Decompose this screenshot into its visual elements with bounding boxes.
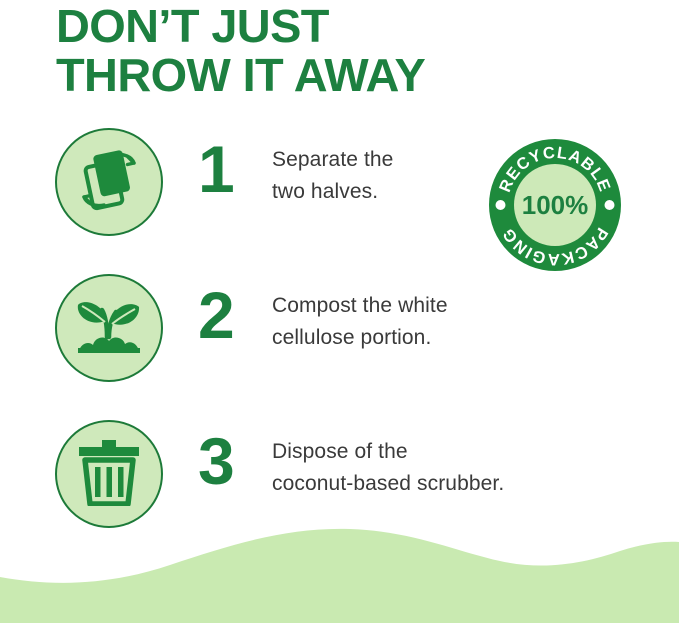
page-title: DON’T JUST THROW IT AWAY [56, 2, 656, 100]
recyclable-packaging-badge: RECYCLABLE PACKAGING 100% [487, 137, 623, 273]
step-item-3: 3 Dispose of the coconut-based scrubber. [0, 420, 679, 566]
badge-dot-left [496, 200, 506, 210]
step-text-1-line-1: Separate the [272, 148, 393, 171]
step-text-2: Compost the white cellulose portion. [272, 290, 652, 354]
step-text-2-line-1: Compost the white [272, 294, 448, 317]
step-icon-circle-2 [55, 274, 163, 382]
step-number-3: 3 [198, 428, 258, 494]
step-text-2-line-2: cellulose portion. [272, 322, 652, 354]
badge-dot-right [605, 200, 615, 210]
sprout-plant-icon [73, 293, 145, 364]
headline-line-1: DON’T JUST [56, 2, 668, 51]
step-text-3: Dispose of the coconut-based scrubber. [272, 436, 652, 500]
headline-line-2: THROW IT AWAY [56, 51, 668, 100]
step-item-2: 2 Compost the white cellulose portion. [0, 274, 679, 420]
step-icon-circle-1 [55, 128, 163, 236]
step-text-3-line-2: coconut-based scrubber. [272, 468, 652, 500]
step-icon-circle-3 [55, 420, 163, 528]
step-text-3-line-1: Dispose of the [272, 440, 408, 463]
step-number-2: 2 [198, 282, 258, 348]
trash-can-icon [76, 438, 142, 511]
separate-halves-icon [70, 141, 148, 224]
step-number-1: 1 [198, 136, 258, 202]
badge-center-text: 100% [522, 190, 589, 220]
